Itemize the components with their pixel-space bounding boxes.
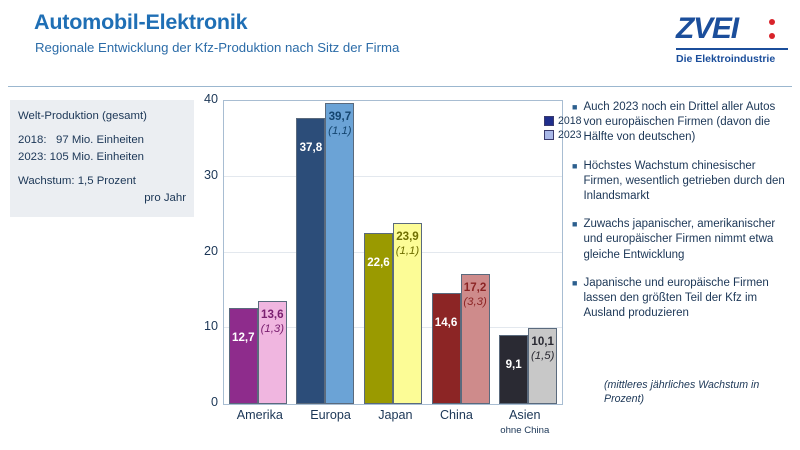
y-axis-tick: 40 — [178, 92, 218, 106]
x-axis-sublabel: ohne China — [500, 424, 549, 438]
bar-group: 22,623,9(1,1) — [364, 223, 422, 404]
page-title: Automobil-Elektronik — [34, 10, 247, 35]
bar-growth-label: (1,1) — [394, 245, 421, 257]
infobox-2023: 2023: 105 Mio. Einheiten — [18, 149, 186, 166]
bullet-item-3: ■Zuwachs japanischer, amerikanischer und… — [572, 217, 796, 263]
plot-area: 12,713,6(1,3)37,839,7(1,1)22,623,9(1,1)1… — [223, 100, 563, 405]
bullet-text: Japanische und europäische Firmen lassen… — [583, 276, 796, 322]
bullet-square-icon: ■ — [572, 276, 577, 322]
bar-value-label: 17,2 — [462, 281, 489, 294]
bar-value-label: 14,6 — [433, 316, 460, 329]
bullet-text: Höchstes Wachstum chinesischer Firmen, w… — [583, 159, 796, 205]
bar-growth-label: (3,3) — [462, 296, 489, 308]
bar-china-2018[interactable]: 14,6 — [432, 293, 461, 404]
bar-group: 9,110,1(1,5) — [499, 328, 557, 405]
bar-growth-label: (1,1) — [326, 125, 353, 137]
bullet-text: Zuwachs japanischer, amerikanischer und … — [583, 217, 796, 263]
x-axis-labels: AmerikaEuropaJapanChinaAsienohne China — [223, 408, 563, 448]
logo-tagline: Die Elektroindustrie — [676, 53, 775, 65]
bar-growth-label: (1,5) — [529, 350, 556, 362]
bar-europa-2018[interactable]: 37,8 — [296, 118, 325, 404]
bar-amerika-2023[interactable]: 13,6(1,3) — [258, 301, 287, 404]
y-axis-tick: 30 — [178, 168, 218, 182]
infobox-growth-line2: pro Jahr — [18, 190, 186, 207]
y-axis-tick: 0 — [178, 395, 218, 409]
world-production-infobox: Welt-Produktion (gesamt) 2018: 97 Mio. E… — [10, 100, 194, 217]
bullet-square-icon: ■ — [572, 159, 577, 205]
bar-value-label: 13,6 — [259, 308, 286, 321]
x-axis-label-europa: Europa — [310, 408, 351, 448]
y-axis-tick: 20 — [178, 244, 218, 258]
bar-group: 14,617,2(3,3) — [432, 274, 490, 404]
zvei-logo: ZVEI Die Elektroindustrie — [676, 14, 788, 72]
bar-europa-2023[interactable]: 39,7(1,1) — [325, 103, 354, 404]
bar-china-2023[interactable]: 17,2(3,3) — [461, 274, 490, 404]
logo-wordmark: ZVEI — [676, 14, 738, 44]
infobox-2018: 2018: 97 Mio. Einheiten — [18, 132, 186, 149]
bullet-item-1: ■Auch 2023 noch ein Drittel aller Autos … — [572, 100, 796, 146]
bar-asien-2023[interactable]: 10,1(1,5) — [528, 328, 557, 405]
bar-value-label: 39,7 — [326, 110, 353, 123]
bullet-item-4: ■Japanische und europäische Firmen lasse… — [572, 276, 796, 322]
bullet-square-icon: ■ — [572, 100, 577, 146]
bar-group: 37,839,7(1,1) — [296, 103, 354, 404]
x-axis-label-japan: Japan — [378, 408, 412, 448]
slide-root: Automobil-Elektronik Regionale Entwicklu… — [0, 0, 800, 450]
bar-japan-2018[interactable]: 22,6 — [364, 233, 393, 404]
bar-amerika-2018[interactable]: 12,7 — [229, 308, 258, 404]
bullet-text: Auch 2023 noch ein Drittel aller Autos v… — [583, 100, 796, 146]
growth-footnote: (mittleres jährliches Wachstum in Prozen… — [604, 378, 794, 406]
y-axis-tick: 10 — [178, 319, 218, 333]
x-axis-label-china: China — [440, 408, 473, 448]
bullet-list: ■Auch 2023 noch ein Drittel aller Autos … — [572, 100, 796, 334]
header-divider — [8, 86, 792, 87]
bar-group: 12,713,6(1,3) — [229, 301, 287, 404]
infobox-heading: Welt-Produktion (gesamt) — [18, 108, 186, 125]
x-axis-label-amerika: Amerika — [237, 408, 283, 448]
bar-growth-label: (1,3) — [259, 323, 286, 335]
bar-value-label: 23,9 — [394, 230, 421, 243]
bar-japan-2023[interactable]: 23,9(1,1) — [393, 223, 422, 404]
legend-swatch-icon — [544, 116, 554, 126]
bar-value-label: 22,6 — [365, 256, 392, 269]
legend-swatch-icon — [544, 130, 554, 140]
bullet-square-icon: ■ — [572, 217, 577, 263]
bar-chart: Millionen Stück im Jahr 010203040 12,713… — [178, 92, 570, 432]
bar-groups: 12,713,6(1,3)37,839,7(1,1)22,623,9(1,1)1… — [224, 101, 562, 404]
bar-value-label: 37,8 — [297, 141, 324, 154]
bar-asien-2018[interactable]: 9,1 — [499, 335, 528, 404]
x-axis-label-asien: Asienohne China — [500, 408, 549, 448]
bar-value-label: 9,1 — [500, 358, 527, 371]
logo-dots-icon — [769, 19, 775, 47]
logo-rule — [676, 48, 788, 50]
infobox-growth-line1: Wachstum: 1,5 Prozent — [18, 173, 186, 190]
page-subtitle: Regionale Entwicklung der Kfz-Produktion… — [35, 40, 399, 55]
bullet-item-2: ■Höchstes Wachstum chinesischer Firmen, … — [572, 159, 796, 205]
bar-value-label: 10,1 — [529, 335, 556, 348]
bar-value-label: 12,7 — [230, 331, 257, 344]
